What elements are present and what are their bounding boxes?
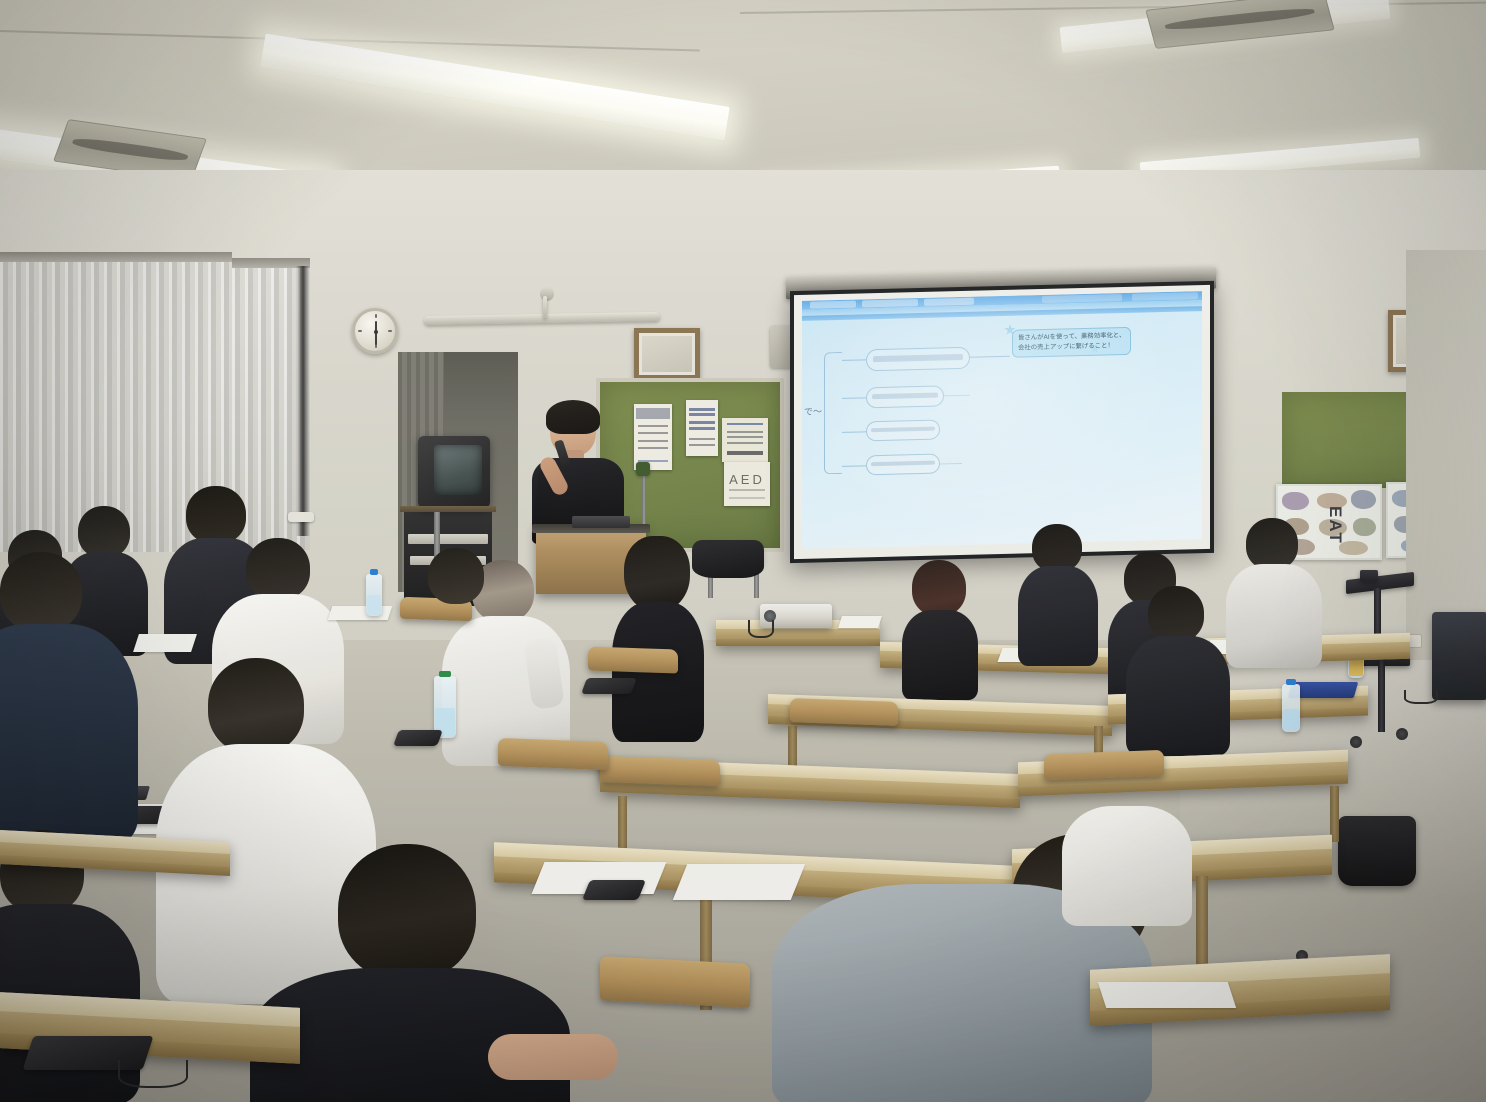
curtain-gap: [296, 266, 310, 536]
slide-node: [866, 420, 940, 442]
curtain-tieback: [288, 512, 314, 522]
smartphone: [581, 678, 637, 694]
slide-connector: [842, 465, 866, 467]
rail-vertical: [543, 296, 547, 318]
attendee-hands: [488, 1034, 618, 1080]
backpack: [1338, 816, 1416, 886]
callout-line-2: 会社の売上アップに繋げること！: [1018, 341, 1125, 354]
smartphone: [582, 880, 646, 900]
fire-safety-poster: [686, 400, 718, 456]
water-bottle: [366, 574, 382, 616]
chair: [1044, 750, 1164, 780]
chair: [588, 646, 678, 673]
power-cable: [1404, 690, 1438, 704]
slide-node: [866, 347, 970, 372]
aed-label: AED: [724, 472, 770, 487]
draped-jacket: [692, 540, 764, 578]
slide-connector: [842, 397, 866, 399]
slide-connector: [842, 359, 866, 361]
air-purifier: [1432, 612, 1486, 700]
chair: [498, 738, 608, 770]
desk-paper: [673, 864, 806, 900]
crt-television: [418, 436, 490, 508]
cart-shelf: [408, 534, 488, 544]
chair: [600, 756, 720, 786]
presenter-hair: [546, 400, 600, 434]
chair: [600, 956, 750, 1008]
projector-table-paper: [838, 616, 882, 628]
poster-letter-eat: EAT: [1325, 506, 1345, 545]
charging-cable: [118, 1060, 188, 1088]
podium-laptop: [572, 516, 630, 528]
slide-left-label: で～: [804, 404, 822, 417]
projection-screen: で～: [790, 281, 1214, 563]
slide-bracket: [824, 352, 842, 474]
desk-paper: [1098, 982, 1236, 1008]
smartphone: [393, 730, 443, 746]
slide-node: [866, 454, 940, 476]
desk-notebook: [133, 634, 197, 652]
slide-node: [866, 385, 944, 408]
slide-connector: [970, 356, 1010, 358]
framed-picture: [634, 328, 700, 380]
seminar-room-photo: AED EAT FUN: [0, 0, 1486, 1102]
projected-slide: で～: [802, 291, 1202, 549]
cart-frame: [400, 506, 496, 512]
floor-lamp-pole: [642, 472, 646, 524]
notice-poster: [634, 404, 672, 470]
desk-leg: [1330, 786, 1339, 842]
water-bottle: [434, 676, 456, 738]
analog-wall-clock: [352, 308, 398, 354]
projector-cable: [748, 620, 774, 638]
slide-connector: [842, 431, 866, 433]
emergency-contact-poster: [722, 418, 768, 462]
desk-leg: [618, 796, 627, 852]
desk-paper: [328, 606, 393, 620]
floor-lamp-head: [636, 462, 650, 476]
slide-connector: [944, 395, 970, 397]
slide-connector: [940, 463, 962, 465]
aed-poster: AED: [724, 462, 770, 506]
chair: [790, 698, 898, 726]
slide-callout: 皆さんがAIを使って、業務効率化と、 会社の売上アップに繋げること！: [1012, 327, 1131, 358]
water-bottle: [1282, 684, 1300, 732]
